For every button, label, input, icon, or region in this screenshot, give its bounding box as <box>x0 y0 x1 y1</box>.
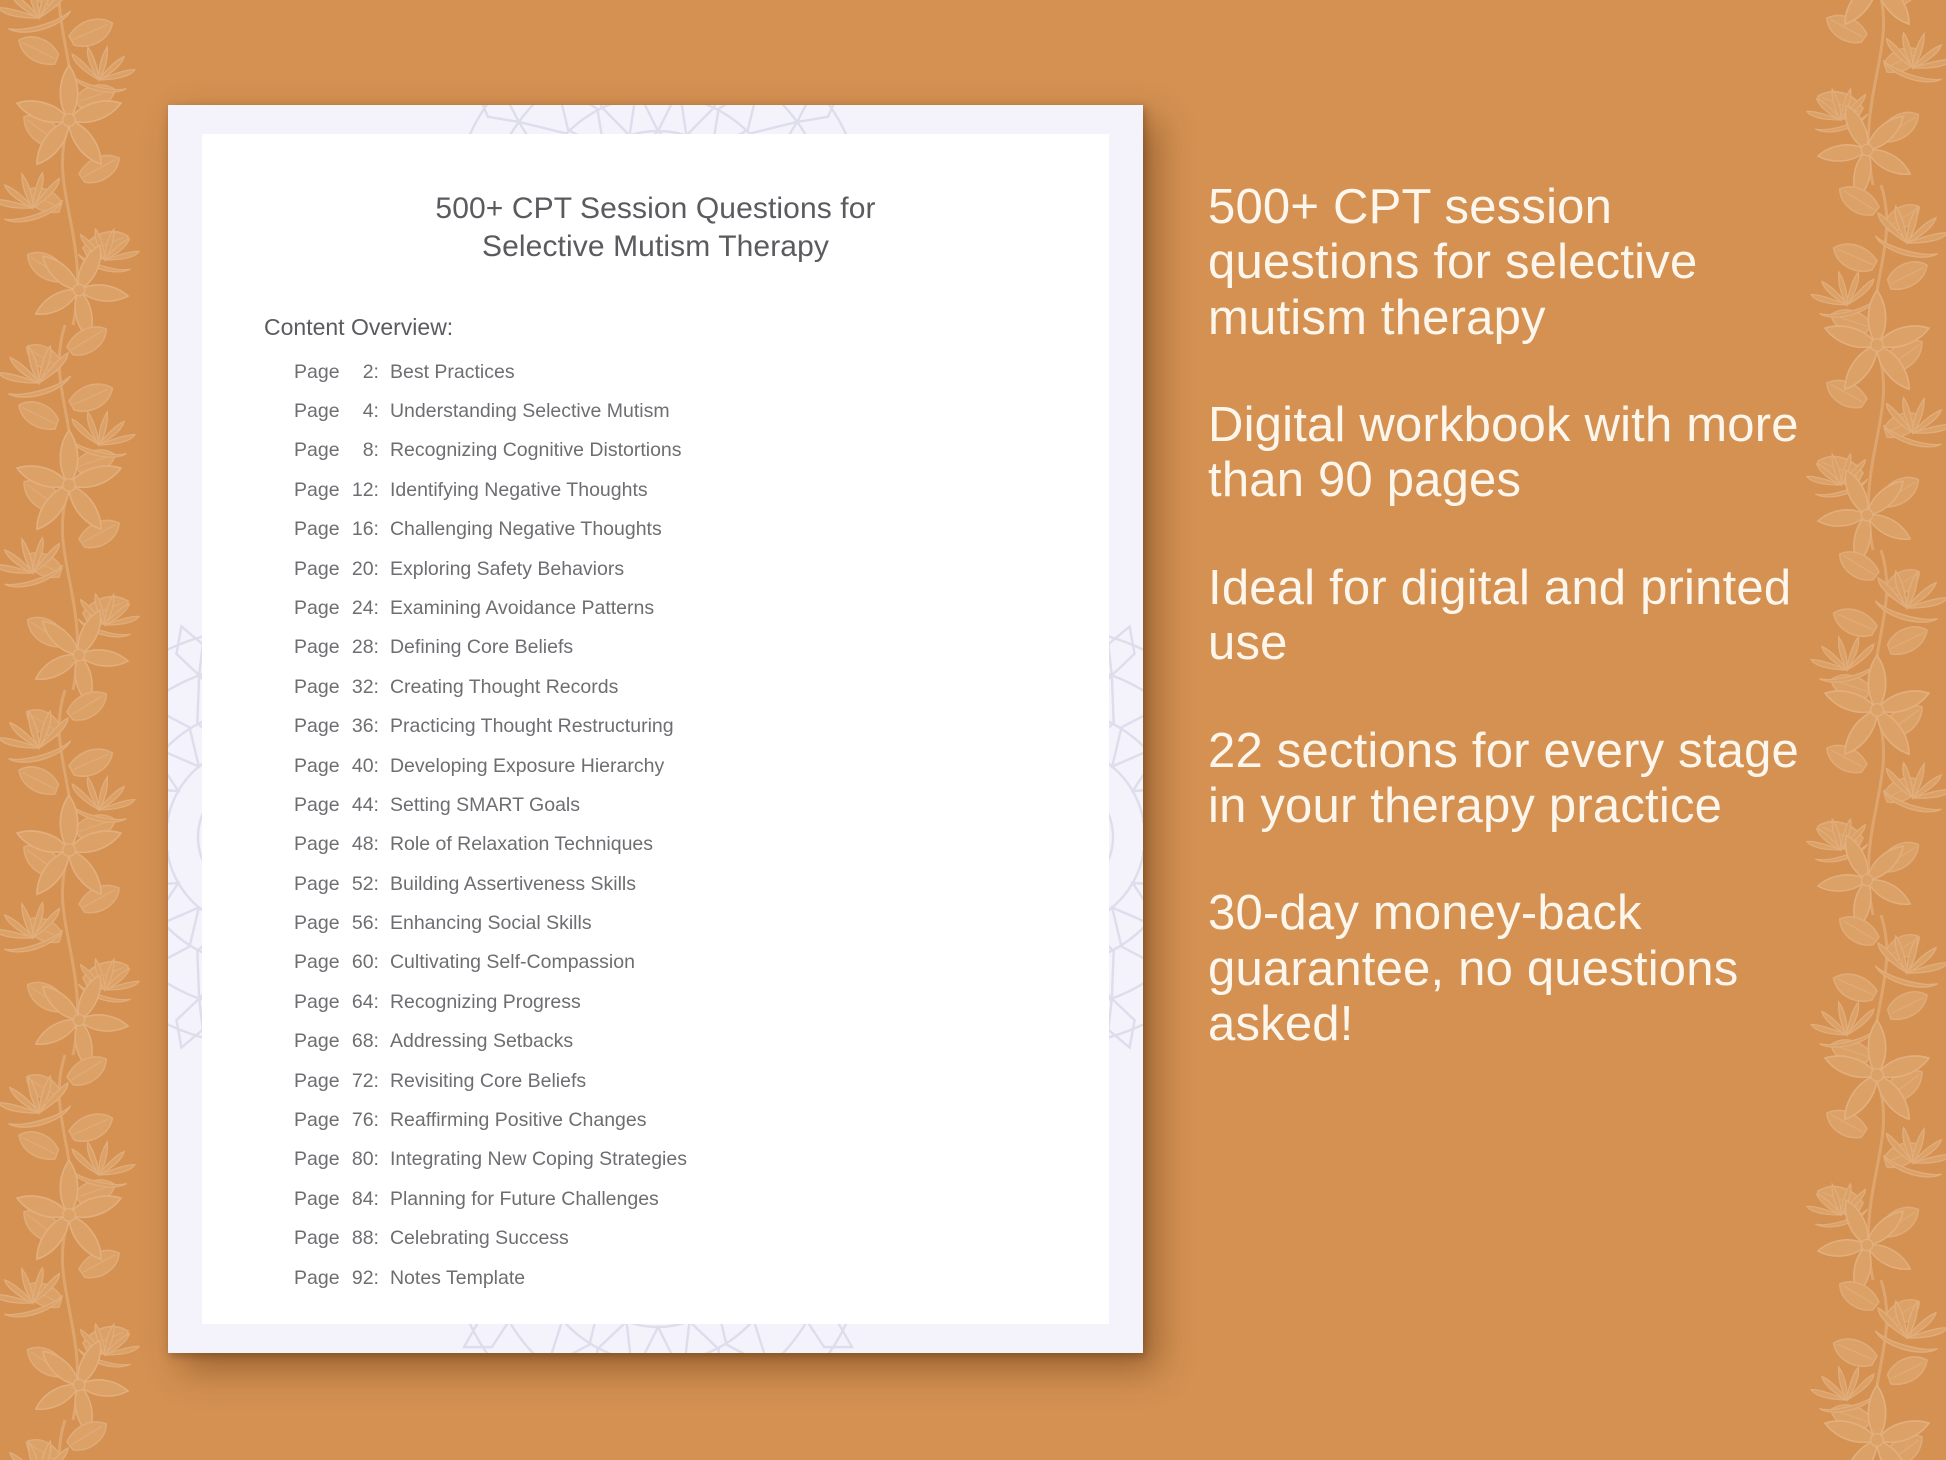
toc-page-number: 24 <box>340 597 374 620</box>
toc-entry-title: Revisiting Core Beliefs <box>390 1070 586 1093</box>
marketing-copy-column: 500+ CPT session questions for selective… <box>1208 180 1808 1052</box>
toc-colon: : <box>374 558 390 581</box>
toc-colon: : <box>374 597 390 620</box>
document-title-line-1: 500+ CPT Session Questions for <box>435 192 875 225</box>
toc-colon: : <box>374 1109 390 1132</box>
toc-colon: : <box>374 951 390 974</box>
toc-page-word: Page <box>294 439 340 462</box>
toc-colon: : <box>374 439 390 462</box>
toc-colon: : <box>374 676 390 699</box>
toc-entry: Page44:Setting SMART Goals <box>294 794 1109 833</box>
toc-colon: : <box>374 833 390 856</box>
toc-entry: Page84:Planning for Future Challenges <box>294 1188 1109 1227</box>
marketing-bullet: 22 sections for every stage in your ther… <box>1208 724 1808 835</box>
toc-page-word: Page <box>294 400 340 423</box>
toc-page-word: Page <box>294 1070 340 1093</box>
toc-entry-title: Defining Core Beliefs <box>390 636 573 659</box>
document-paper: 500+ CPT Session Questions for Selective… <box>168 105 1143 1353</box>
toc-entry: Page12:Identifying Negative Thoughts <box>294 479 1109 518</box>
toc-entry: Page48:Role of Relaxation Techniques <box>294 833 1109 872</box>
toc-page-number: 92 <box>340 1267 374 1290</box>
marketing-bullet: Ideal for digital and printed use <box>1208 561 1808 672</box>
toc-entry-title: Notes Template <box>390 1267 525 1290</box>
toc-page-number: 16 <box>340 518 374 541</box>
toc-page-word: Page <box>294 1030 340 1053</box>
toc-entry-title: Celebrating Success <box>390 1227 569 1250</box>
toc-entry-title: Identifying Negative Thoughts <box>390 479 648 502</box>
toc-colon: : <box>374 912 390 935</box>
table-of-contents: Page2:Best PracticesPage4:Understanding … <box>202 341 1109 1306</box>
toc-entry: Page68:Addressing Setbacks <box>294 1030 1109 1069</box>
toc-entry: Page40:Developing Exposure Hierarchy <box>294 755 1109 794</box>
toc-page-word: Page <box>294 833 340 856</box>
toc-entry-title: Setting SMART Goals <box>390 794 580 817</box>
toc-page-number: 2 <box>340 361 374 384</box>
toc-colon: : <box>374 991 390 1014</box>
toc-page-number: 80 <box>340 1148 374 1171</box>
toc-page-word: Page <box>294 479 340 502</box>
toc-entry: Page76:Reaffirming Positive Changes <box>294 1109 1109 1148</box>
toc-page-number: 72 <box>340 1070 374 1093</box>
toc-colon: : <box>374 400 390 423</box>
toc-entry-title: Creating Thought Records <box>390 676 618 699</box>
toc-entry: Page24:Examining Avoidance Patterns <box>294 597 1109 636</box>
toc-page-word: Page <box>294 873 340 896</box>
toc-page-number: 44 <box>340 794 374 817</box>
marketing-bullet: 500+ CPT session questions for selective… <box>1208 180 1808 346</box>
toc-page-number: 32 <box>340 676 374 699</box>
toc-colon: : <box>374 794 390 817</box>
toc-entry-title: Recognizing Cognitive Distortions <box>390 439 682 462</box>
toc-page-word: Page <box>294 597 340 620</box>
toc-colon: : <box>374 1070 390 1093</box>
toc-entry-title: Best Practices <box>390 361 515 384</box>
toc-page-number: 20 <box>340 558 374 581</box>
toc-entry: Page52:Building Assertiveness Skills <box>294 873 1109 912</box>
toc-colon: : <box>374 1030 390 1053</box>
toc-entry: Page72:Revisiting Core Beliefs <box>294 1070 1109 1109</box>
toc-colon: : <box>374 873 390 896</box>
toc-colon: : <box>374 518 390 541</box>
marketing-bullet: Digital workbook with more than 90 pages <box>1208 398 1808 509</box>
toc-entry-title: Understanding Selective Mutism <box>390 400 670 423</box>
document-title: 500+ CPT Session Questions for Selective… <box>202 134 1109 266</box>
toc-entry: Page56:Enhancing Social Skills <box>294 912 1109 951</box>
toc-page-number: 28 <box>340 636 374 659</box>
toc-page-number: 64 <box>340 991 374 1014</box>
toc-entry-title: Practicing Thought Restructuring <box>390 715 674 738</box>
document-page: 500+ CPT Session Questions for Selective… <box>202 134 1109 1324</box>
toc-page-number: 36 <box>340 715 374 738</box>
toc-page-word: Page <box>294 361 340 384</box>
toc-entry: Page4:Understanding Selective Mutism <box>294 400 1109 439</box>
toc-entry: Page8:Recognizing Cognitive Distortions <box>294 439 1109 478</box>
toc-page-number: 76 <box>340 1109 374 1132</box>
toc-page-word: Page <box>294 1227 340 1250</box>
toc-page-number: 56 <box>340 912 374 935</box>
toc-page-word: Page <box>294 636 340 659</box>
toc-page-word: Page <box>294 558 340 581</box>
content-overview-label: Content Overview: <box>202 266 1109 341</box>
marketing-bullet: 30-day money-back guarantee, no question… <box>1208 886 1808 1052</box>
toc-colon: : <box>374 1148 390 1171</box>
slide-canvas: 500+ CPT Session Questions for Selective… <box>0 0 1946 1460</box>
toc-entry-title: Examining Avoidance Patterns <box>390 597 654 620</box>
toc-entry-title: Role of Relaxation Techniques <box>390 833 653 856</box>
toc-entry-title: Reaffirming Positive Changes <box>390 1109 647 1132</box>
toc-entry: Page92:Notes Template <box>294 1267 1109 1306</box>
toc-colon: : <box>374 636 390 659</box>
toc-page-word: Page <box>294 794 340 817</box>
toc-page-number: 12 <box>340 479 374 502</box>
toc-entry-title: Challenging Negative Thoughts <box>390 518 662 541</box>
toc-page-word: Page <box>294 755 340 778</box>
toc-page-number: 40 <box>340 755 374 778</box>
toc-colon: : <box>374 755 390 778</box>
toc-colon: : <box>374 479 390 502</box>
toc-page-number: 4 <box>340 400 374 423</box>
toc-entry: Page16:Challenging Negative Thoughts <box>294 518 1109 557</box>
toc-entry: Page80:Integrating New Coping Strategies <box>294 1148 1109 1187</box>
toc-entry-title: Recognizing Progress <box>390 991 581 1014</box>
toc-page-number: 60 <box>340 951 374 974</box>
toc-page-word: Page <box>294 1188 340 1211</box>
toc-colon: : <box>374 1267 390 1290</box>
toc-entry-title: Exploring Safety Behaviors <box>390 558 624 581</box>
toc-entry-title: Cultivating Self-Compassion <box>390 951 635 974</box>
toc-entry-title: Enhancing Social Skills <box>390 912 592 935</box>
toc-entry: Page36:Practicing Thought Restructuring <box>294 715 1109 754</box>
toc-entry: Page2:Best Practices <box>294 361 1109 400</box>
toc-colon: : <box>374 361 390 384</box>
floral-vine-border-left-icon <box>0 0 185 1460</box>
toc-page-number: 48 <box>340 833 374 856</box>
toc-entry-title: Integrating New Coping Strategies <box>390 1148 687 1171</box>
toc-page-word: Page <box>294 518 340 541</box>
toc-entry: Page28:Defining Core Beliefs <box>294 636 1109 675</box>
toc-entry: Page32:Creating Thought Records <box>294 676 1109 715</box>
toc-page-number: 68 <box>340 1030 374 1053</box>
toc-page-number: 52 <box>340 873 374 896</box>
document-title-line-2: Selective Mutism Therapy <box>482 230 829 263</box>
toc-colon: : <box>374 715 390 738</box>
toc-page-word: Page <box>294 715 340 738</box>
toc-entry-title: Developing Exposure Hierarchy <box>390 755 664 778</box>
toc-entry: Page20:Exploring Safety Behaviors <box>294 558 1109 597</box>
toc-page-word: Page <box>294 991 340 1014</box>
toc-entry-title: Building Assertiveness Skills <box>390 873 636 896</box>
toc-colon: : <box>374 1188 390 1211</box>
toc-page-word: Page <box>294 951 340 974</box>
toc-page-number: 88 <box>340 1227 374 1250</box>
toc-colon: : <box>374 1227 390 1250</box>
toc-page-word: Page <box>294 912 340 935</box>
toc-entry: Page60:Cultivating Self-Compassion <box>294 951 1109 990</box>
toc-page-word: Page <box>294 1109 340 1132</box>
toc-page-word: Page <box>294 1267 340 1290</box>
toc-page-word: Page <box>294 676 340 699</box>
toc-entry-title: Planning for Future Challenges <box>390 1188 659 1211</box>
toc-entry: Page88:Celebrating Success <box>294 1227 1109 1266</box>
toc-page-number: 84 <box>340 1188 374 1211</box>
toc-page-number: 8 <box>340 439 374 462</box>
toc-page-word: Page <box>294 1148 340 1171</box>
toc-entry: Page64:Recognizing Progress <box>294 991 1109 1030</box>
toc-entry-title: Addressing Setbacks <box>390 1030 573 1053</box>
